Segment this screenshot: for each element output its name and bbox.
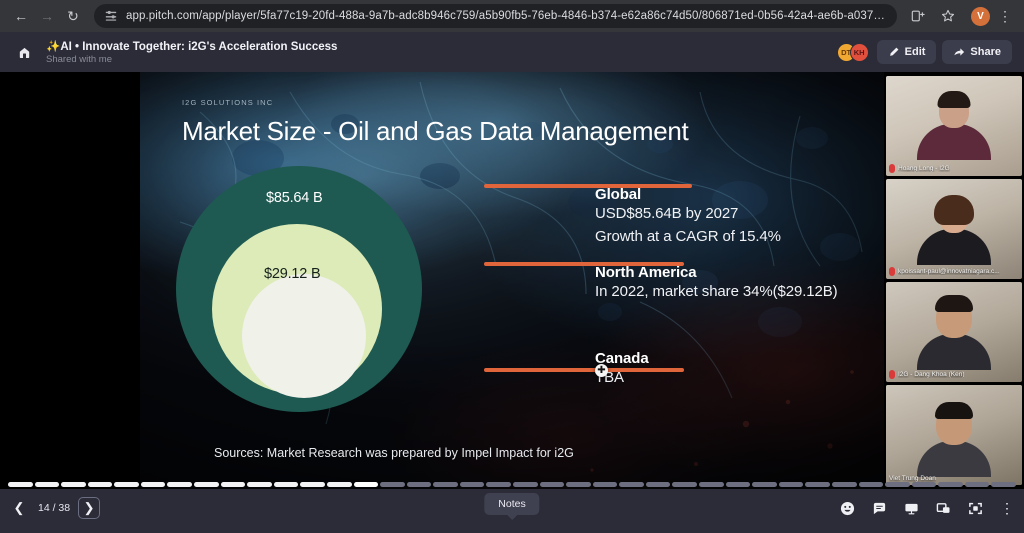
progress-segment[interactable] — [965, 482, 990, 487]
pencil-icon — [888, 46, 900, 58]
home-icon[interactable] — [12, 40, 36, 64]
north-america-heading: North America — [595, 264, 838, 281]
canada-circle — [242, 274, 366, 398]
forward-arrow-icon[interactable]: → — [34, 3, 60, 29]
participant-silhouette — [917, 94, 991, 160]
mic-muted-icon — [889, 370, 895, 379]
progress-segment[interactable] — [991, 482, 1016, 487]
progress-segment[interactable] — [593, 482, 618, 487]
previous-slide-button[interactable]: ❮ — [8, 497, 30, 519]
progress-segment[interactable] — [885, 482, 910, 487]
progress-segment[interactable] — [167, 482, 192, 487]
player-tools: ⋮ — [838, 499, 1016, 517]
edit-button-label: Edit — [905, 46, 926, 58]
global-line-2: Growth at a CAGR of 15.4% — [595, 226, 781, 249]
progress-segment[interactable] — [407, 482, 432, 487]
slide-progress-bar[interactable] — [0, 479, 1024, 489]
participant-tile[interactable]: kpoissant-paul@innovatniagara.c... — [886, 179, 1022, 279]
notes-button[interactable]: Notes — [484, 493, 539, 515]
progress-segment[interactable] — [35, 482, 60, 487]
progress-segment[interactable] — [61, 482, 86, 487]
slide-canvas[interactable]: I2G SOLUTIONS INC Market Size - Oil and … — [140, 72, 884, 489]
site-settings-icon[interactable] — [104, 9, 118, 23]
browser-window: ← → ↻ app.pitch.com/app/player/5fa77c19-… — [0, 0, 1024, 533]
progress-segment[interactable] — [779, 482, 804, 487]
more-options-icon[interactable]: ⋮ — [998, 499, 1016, 517]
progress-segment[interactable] — [194, 482, 219, 487]
progress-segment[interactable] — [221, 482, 246, 487]
participant-tile-active-speaker[interactable]: Viet Trung Doan — [886, 385, 1022, 485]
progress-segment[interactable] — [141, 482, 166, 487]
progress-segment[interactable] — [486, 482, 511, 487]
progress-segment[interactable] — [433, 482, 458, 487]
progress-segment[interactable] — [699, 482, 724, 487]
progress-segment[interactable] — [354, 482, 379, 487]
slide-counter: 14 / 38 — [38, 502, 70, 514]
app-header: ✨AI • Innovate Together: i2G's Accelerat… — [0, 32, 1024, 72]
progress-segment[interactable] — [726, 482, 751, 487]
progress-segment[interactable] — [672, 482, 697, 487]
browser-toolbar: ← → ↻ app.pitch.com/app/player/5fa77c19-… — [0, 0, 1024, 32]
progress-segment[interactable] — [752, 482, 777, 487]
progress-segment[interactable] — [938, 482, 963, 487]
mic-muted-icon — [889, 164, 895, 173]
next-slide-button[interactable]: ❯ — [78, 497, 100, 519]
participant-name-label: kpoissant-paul@innovatniagara.c... — [889, 267, 1019, 276]
progress-segment[interactable] — [460, 482, 485, 487]
mic-muted-icon — [889, 267, 895, 276]
participant-silhouette — [917, 298, 991, 370]
progress-segment[interactable] — [832, 482, 857, 487]
avatar[interactable]: KH — [850, 43, 869, 62]
slide-source-note: Sources: Market Research was prepared by… — [214, 446, 574, 460]
back-arrow-icon[interactable]: ← — [8, 3, 34, 29]
reaction-smiley-icon[interactable] — [838, 499, 856, 517]
participant-tile[interactable]: I2G - Dang Khoa (Ken) — [886, 282, 1022, 382]
participant-silhouette — [917, 199, 991, 265]
edit-button[interactable]: Edit — [877, 40, 937, 64]
picture-in-picture-icon[interactable] — [934, 499, 952, 517]
north-america-text-block: North America In 2022, market share 34%(… — [595, 264, 838, 304]
browser-profile-avatar[interactable]: V — [971, 7, 990, 26]
progress-segment[interactable] — [619, 482, 644, 487]
share-button[interactable]: Share — [942, 40, 1012, 64]
progress-segment[interactable] — [247, 482, 272, 487]
install-app-icon[interactable] — [905, 3, 931, 29]
progress-segment[interactable] — [859, 482, 884, 487]
pointer-dot-icon: ✚ — [595, 364, 608, 377]
page-title: ✨AI • Innovate Together: i2G's Accelerat… — [46, 39, 837, 53]
canada-connector-rule — [484, 368, 684, 372]
collaborator-avatars: DT KH — [837, 43, 869, 62]
bookmark-star-icon[interactable] — [935, 3, 961, 29]
participant-silhouette — [917, 405, 991, 477]
participant-name-label: Hoang Long - I2G — [889, 164, 1019, 173]
progress-segment[interactable] — [114, 482, 139, 487]
global-line-1: USD$85.64B by 2027 — [595, 203, 781, 226]
address-bar[interactable]: app.pitch.com/app/player/5fa77c19-20fd-4… — [94, 4, 897, 28]
north-america-value-label: $29.12 B — [264, 266, 320, 282]
share-button-label: Share — [970, 46, 1001, 58]
progress-segment[interactable] — [380, 482, 405, 487]
progress-segment[interactable] — [327, 482, 352, 487]
progress-segment[interactable] — [912, 482, 937, 487]
document-sharing-status: Shared with me — [46, 54, 837, 65]
kebab-menu-icon[interactable]: ⋮ — [994, 9, 1016, 23]
progress-segment[interactable] — [805, 482, 830, 487]
progress-segment[interactable] — [566, 482, 591, 487]
progress-segment[interactable] — [540, 482, 565, 487]
participant-name-label: I2G - Dang Khoa (Ken) — [889, 370, 1019, 379]
progress-segment[interactable] — [513, 482, 538, 487]
player-toolbar: ❮ 14 / 38 ❯ Notes ⋮ — [0, 489, 1024, 533]
global-heading: Global — [595, 186, 781, 203]
global-text-block: Global USD$85.64B by 2027 Growth at a CA… — [595, 186, 781, 249]
progress-segment[interactable] — [300, 482, 325, 487]
participant-video-panel: Hoang Long - I2G kpoissant-paul@innovatn… — [884, 72, 1024, 489]
progress-segment[interactable] — [274, 482, 299, 487]
progress-segment[interactable] — [646, 482, 671, 487]
presentation-stage: I2G SOLUTIONS INC Market Size - Oil and … — [0, 72, 1024, 489]
north-america-line-1: In 2022, market share 34%($29.12B) — [595, 281, 838, 304]
present-screen-icon[interactable] — [902, 499, 920, 517]
fullscreen-icon[interactable] — [966, 499, 984, 517]
document-meta: ✨AI • Innovate Together: i2G's Accelerat… — [46, 39, 837, 65]
progress-segment[interactable] — [8, 482, 33, 487]
progress-segment[interactable] — [88, 482, 113, 487]
reload-icon[interactable]: ↻ — [60, 3, 86, 29]
chat-bubble-icon[interactable] — [870, 499, 888, 517]
global-value-label: $85.64 B — [266, 190, 322, 206]
slide-eyebrow: I2G SOLUTIONS INC — [182, 98, 273, 107]
url-text: app.pitch.com/app/player/5fa77c19-20fd-4… — [126, 10, 887, 22]
share-arrow-icon — [953, 46, 965, 58]
slide-navigation: ❮ 14 / 38 ❯ — [8, 497, 100, 519]
slide-title: Market Size - Oil and Gas Data Managemen… — [182, 116, 842, 147]
participant-tile[interactable]: Hoang Long - I2G — [886, 76, 1022, 176]
